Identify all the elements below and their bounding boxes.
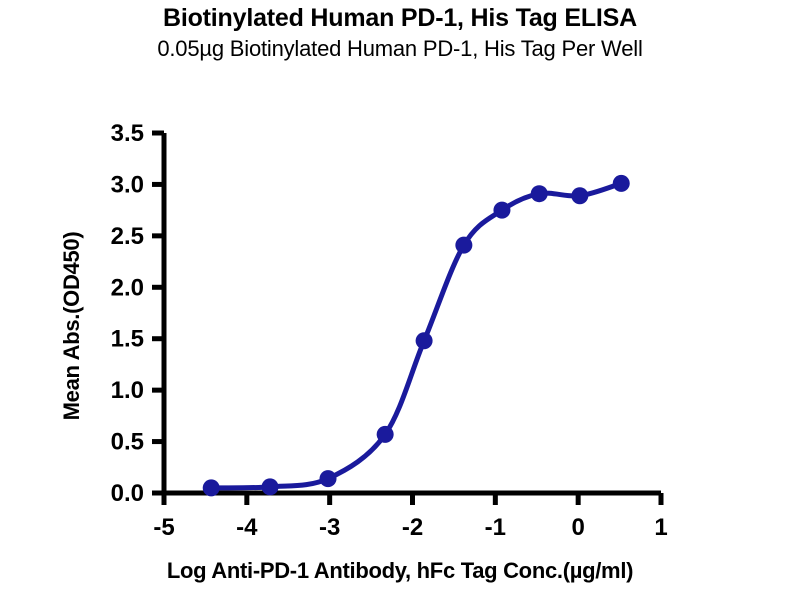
data-point-marker bbox=[571, 187, 588, 204]
y-tick-label: 0.5 bbox=[111, 429, 144, 456]
y-tick-label: 2.0 bbox=[111, 274, 144, 301]
data-point-marker bbox=[493, 202, 510, 219]
x-tick-label: -5 bbox=[153, 514, 174, 541]
data-point-marker bbox=[203, 479, 220, 496]
data-point-marker bbox=[416, 332, 433, 349]
plot-area: 0.00.51.01.52.02.53.03.5 -5-4-3-2-101 bbox=[0, 0, 800, 600]
y-tick-label: 2.5 bbox=[111, 223, 144, 250]
series-curve bbox=[211, 183, 621, 487]
data-point-marker bbox=[377, 426, 394, 443]
y-tick-label-group: 0.00.51.01.52.02.53.03.5 bbox=[111, 120, 144, 507]
x-tick-label: -3 bbox=[319, 514, 340, 541]
data-point-marker bbox=[531, 185, 548, 202]
y-tick-label: 3.0 bbox=[111, 171, 144, 198]
x-tick-label-group: -5-4-3-2-101 bbox=[153, 514, 667, 541]
x-tick-label: -4 bbox=[236, 514, 258, 541]
y-tick-label: 0.0 bbox=[111, 480, 144, 507]
data-point-marker bbox=[455, 237, 472, 254]
series-marker-group bbox=[203, 175, 630, 496]
y-tick-label: 1.0 bbox=[111, 377, 144, 404]
y-tick-label: 3.5 bbox=[111, 120, 144, 147]
x-tick-label: -2 bbox=[402, 514, 423, 541]
data-point-marker bbox=[320, 470, 337, 487]
y-tick-label: 1.5 bbox=[111, 326, 144, 353]
data-point-marker bbox=[613, 175, 630, 192]
elisa-chart-figure: Biotinylated Human PD-1, His Tag ELISA 0… bbox=[0, 0, 800, 600]
data-point-marker bbox=[262, 478, 279, 495]
x-tick-label: -1 bbox=[485, 514, 506, 541]
x-tick-label: 0 bbox=[571, 514, 584, 541]
x-tick-label: 1 bbox=[654, 514, 667, 541]
